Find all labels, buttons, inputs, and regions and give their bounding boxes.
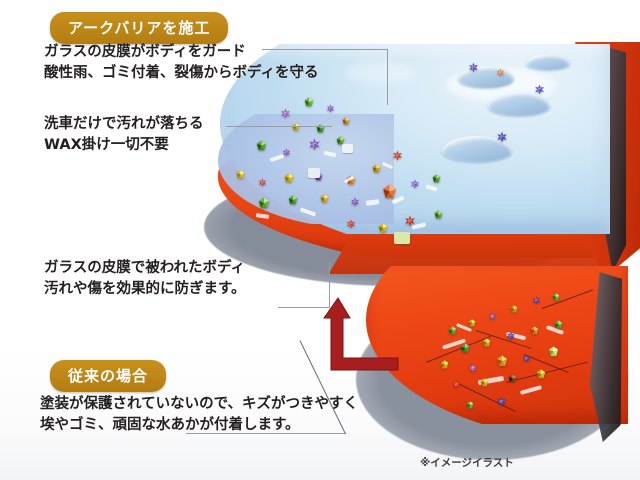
dirt-particle [496, 352, 508, 364]
water-droplet [488, 92, 550, 116]
dirt-particle [548, 342, 559, 353]
dirt-particle [346, 214, 356, 224]
dirt-particle [236, 164, 245, 173]
debris-chip [342, 144, 353, 153]
dirt-particle [378, 218, 388, 228]
callout-guard-line-1: ガラスの皮膜がボディをガード [44, 42, 318, 63]
dirt-particle [480, 372, 489, 381]
callout-wash-line-1: 洗車だけで汚れが落ちる [44, 114, 204, 135]
dirt-particle [292, 116, 300, 124]
dirt-particle [460, 338, 470, 348]
dirt-particle [468, 358, 478, 368]
dirt-particle [404, 212, 416, 224]
dirt-particle [506, 326, 516, 336]
dirt-particle [488, 306, 497, 315]
dirt-particle [482, 332, 491, 341]
dirt-particle [288, 190, 298, 200]
callout-guard-line-2: 酸性雨、ゴミ付着、裂傷からボディを守る [44, 63, 318, 84]
glass-sheen-secondary [346, 62, 416, 84]
callout-wash: 洗車だけで汚れが落ちる WAX掛け一切不要 [44, 114, 204, 156]
callout-wash-line-2: WAX掛け一切不要 [44, 135, 204, 156]
callout-legacy: 塗装が保護されていないので、キズがつきやすく 埃やゴミ、頑固な水あかが付着します… [40, 394, 358, 436]
water-droplet [526, 54, 570, 70]
dirt-particle [522, 348, 531, 357]
dirt-particle [326, 98, 335, 107]
dirt-particle [466, 394, 474, 402]
dirt-particle [280, 104, 291, 115]
dirt-particle [392, 146, 403, 157]
dirt-particle [304, 92, 314, 102]
dirt-particle [552, 286, 560, 294]
upgrade-arrow [318, 284, 404, 378]
dirt-particle [468, 312, 476, 320]
dirt-particle [258, 194, 270, 206]
dirt-particle-on-droplet [496, 62, 505, 71]
badge-legacy: 従来の場合 [50, 360, 166, 392]
callout-film-line-2: 汚れや傷を効果的に防ぎます。 [44, 279, 246, 300]
dirt-particle [440, 354, 449, 363]
dirt-particle [372, 158, 381, 167]
dirt-particle [432, 168, 441, 177]
dirt-particle [350, 192, 360, 202]
dirt-particle [536, 364, 546, 374]
dirt-particle [316, 118, 325, 127]
dirt-particle-on-droplet [496, 128, 508, 140]
callout-film-line-1: ガラスの皮膜で被われたボディ [44, 258, 246, 279]
dirt-particle [282, 142, 291, 151]
dirt-particle [308, 136, 321, 149]
debris-chip [308, 168, 320, 178]
dirt-particle [320, 188, 329, 197]
dirt-particle [452, 374, 461, 383]
dirt-particle [448, 320, 457, 329]
dirt-particle [496, 392, 507, 403]
callout-guard: ガラスの皮膜がボディをガード 酸性雨、ゴミ付着、裂傷からボディを守る [44, 42, 318, 84]
dirt-particle [336, 130, 345, 139]
illustration-canvas: アークバリアを施工 従来の場合 ガラスの皮膜がボディをガード 酸性雨、ゴミ付着、… [0, 0, 640, 480]
dirt-particle [532, 290, 541, 299]
dirt-particle [434, 204, 443, 213]
dirt-particle [284, 168, 294, 178]
dirt-particle [530, 320, 539, 329]
image-disclaimer: ※イメージイラスト [420, 455, 514, 470]
callout-legacy-line-1: 塗装が保護されていないので、キズがつきやすく [40, 394, 358, 415]
callout-legacy-line-2: 埃やゴミ、頑固な水あかが付着します。 [40, 415, 358, 436]
dirt-particle-on-droplet [534, 80, 545, 91]
debris-chip [394, 232, 410, 244]
dirt-particle [410, 174, 420, 184]
dirt-particle [258, 172, 267, 181]
dirt-particle [342, 110, 350, 118]
dirt-particle [554, 314, 563, 323]
badge-coated: アークバリアを施工 [50, 12, 228, 44]
dirt-particle [256, 136, 267, 147]
dirt-particle [382, 184, 397, 199]
callout-film: ガラスの皮膜で被われたボディ 汚れや傷を効果的に防ぎます。 [44, 258, 246, 300]
dirt-particle [510, 298, 518, 306]
water-droplet [458, 66, 514, 88]
dirt-particle-on-droplet [468, 58, 479, 69]
dirt-particle [508, 368, 517, 377]
